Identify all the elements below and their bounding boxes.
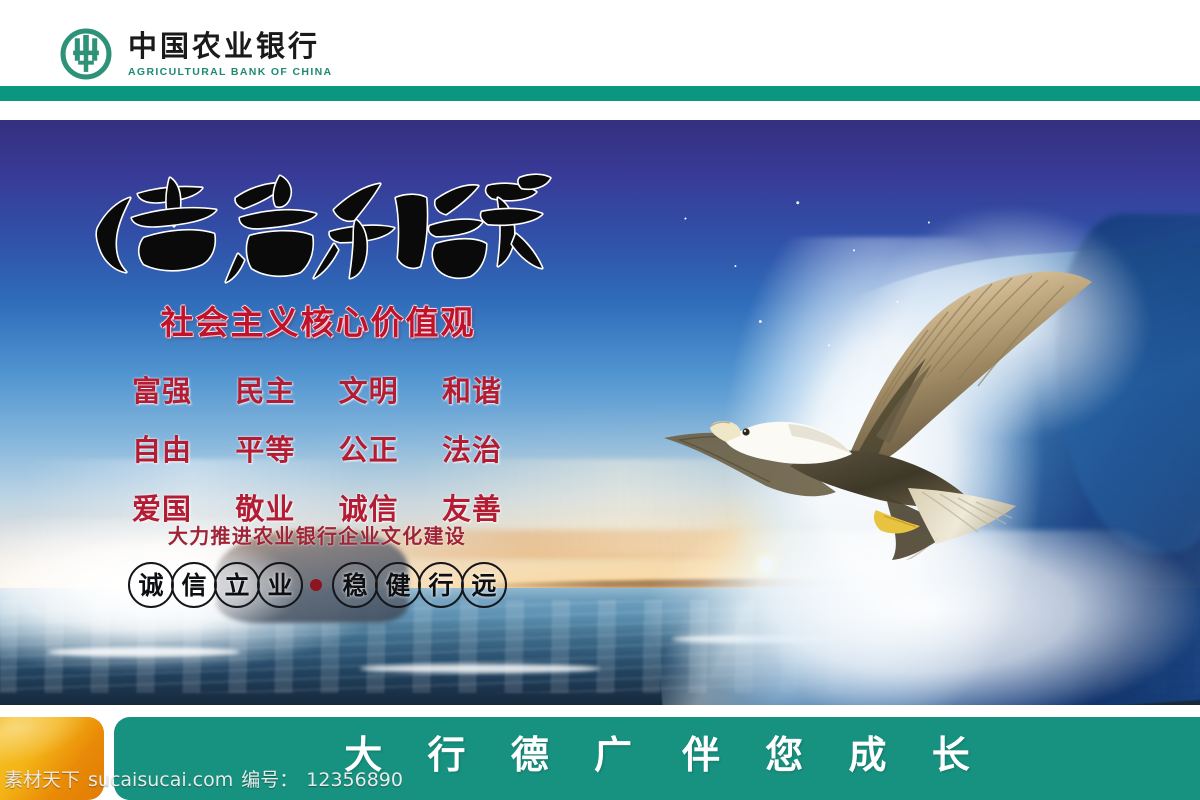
motto-char: 立 xyxy=(224,573,249,598)
slogan-right: 伴 您 成 长 xyxy=(682,733,986,777)
watermark: 素材天下 sucaisucai.com 编号： 12356890 xyxy=(4,765,403,792)
whitecap xyxy=(360,664,600,673)
value-item: 和谐 xyxy=(442,368,502,410)
green-divider-rule xyxy=(0,86,1200,101)
watermark-site-url: sucaisucai.com xyxy=(88,769,233,791)
motto-separator-dot xyxy=(310,579,322,591)
value-item: 民主 xyxy=(235,368,295,410)
whitecap xyxy=(48,647,240,657)
value-item: 文明 xyxy=(339,368,399,410)
ringed-character: 行 xyxy=(418,562,464,608)
values-row: 自由 平等 公正 法治 xyxy=(132,427,502,469)
poster-artwork: 社会主义核心价值观 富强 民主 文明 和谐 自由 平等 公正 法治 爱国 敬业 … xyxy=(0,120,1200,705)
calligraphy-title xyxy=(84,164,554,286)
ringed-character: 健 xyxy=(375,562,421,608)
soaring-eagle-icon xyxy=(640,260,1110,560)
motto-char: 业 xyxy=(267,573,292,598)
value-item: 平等 xyxy=(235,427,295,469)
motto-char: 健 xyxy=(385,573,410,598)
ringed-character: 远 xyxy=(461,562,507,608)
abc-circular-emblem-icon xyxy=(58,26,114,82)
ringed-character: 立 xyxy=(214,562,260,608)
ringed-character: 诚 xyxy=(128,562,174,608)
motto-char: 远 xyxy=(471,573,496,598)
white-gap-rule xyxy=(0,101,1200,120)
motto-char: 稳 xyxy=(342,573,367,598)
value-item: 法治 xyxy=(442,427,502,469)
brand-logo: 中国农业银行 AGRICULTURAL BANK OF CHINA xyxy=(58,26,332,82)
values-row: 富强 民主 文明 和谐 xyxy=(132,368,502,410)
motto-char: 诚 xyxy=(138,573,163,598)
header-bar: 中国农业银行 AGRICULTURAL BANK OF CHINA xyxy=(0,0,1200,86)
motto-char: 行 xyxy=(428,573,453,598)
value-item: 自由 xyxy=(132,427,192,469)
subtitle-line: 大力推进农业银行企业文化建设 xyxy=(134,520,500,549)
ringed-character: 业 xyxy=(257,562,303,608)
ringed-character: 信 xyxy=(171,562,217,608)
core-values-grid: 富强 民主 文明 和谐 自由 平等 公正 法治 爱国 敬业 诚信 友善 xyxy=(132,368,502,545)
watermark-id-label: 编号： xyxy=(241,765,298,792)
value-item: 富强 xyxy=(132,368,192,410)
motto-char: 信 xyxy=(181,573,206,598)
poster-canvas: 中国农业银行 AGRICULTURAL BANK OF CHINA xyxy=(0,0,1200,800)
ringed-character: 稳 xyxy=(332,562,378,608)
brand-name-en: AGRICULTURAL BANK OF CHINA xyxy=(128,66,332,78)
brand-name-cn: 中国农业银行 xyxy=(128,30,332,62)
motto-line: 诚 信 立 业 稳 健 行 远 xyxy=(128,562,504,608)
page-title: 社会主义核心价值观 xyxy=(138,306,498,339)
value-item: 公正 xyxy=(339,427,399,469)
watermark-id-value: 12356890 xyxy=(306,769,403,791)
watermark-site-cn: 素材天下 xyxy=(4,765,80,792)
